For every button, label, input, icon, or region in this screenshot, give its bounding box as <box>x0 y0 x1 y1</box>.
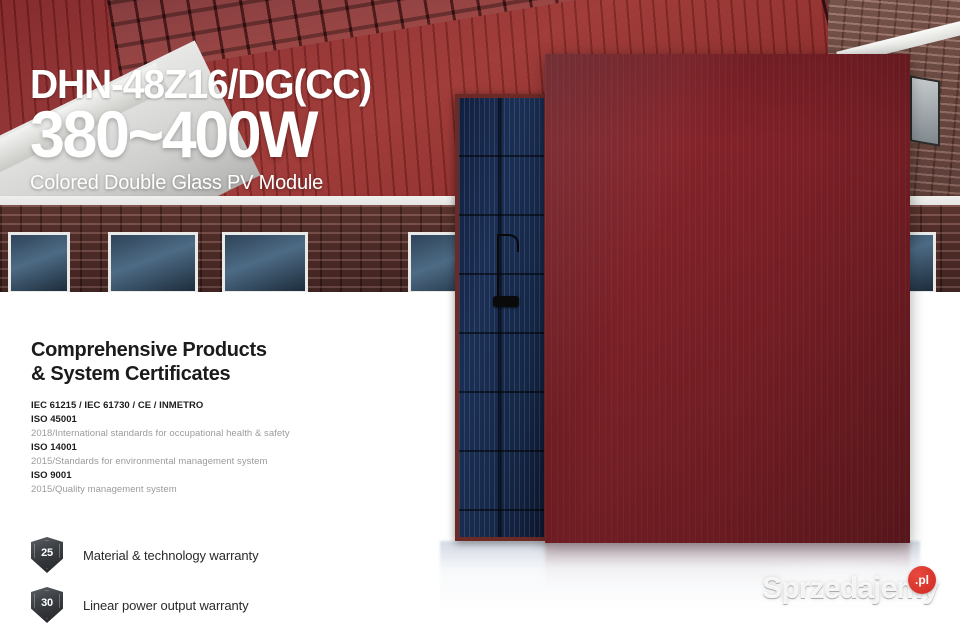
product-banner-page: DHN-48Z16/DG(CC) 380~400W Colored Double… <box>0 0 960 630</box>
product-subtitle: Colored Double Glass PV Module <box>30 172 389 195</box>
right-house-window <box>910 75 940 146</box>
warranty-label: Linear power output warranty <box>83 598 249 613</box>
warranty-row: 30 Linear power output warranty <box>31 580 451 630</box>
warranties-section: 25 Material & technology warranty 30 Lin… <box>31 530 451 630</box>
certificates-section: Comprehensive Products & System Certific… <box>31 338 431 497</box>
certificate-description: 2015/Standards for environmental managem… <box>31 455 431 469</box>
warranty-label: Material & technology warranty <box>83 548 258 563</box>
warranty-years: 25 <box>41 547 53 559</box>
certificates-heading-line2: & System Certificates <box>31 362 431 386</box>
shield-icon: 25 <box>31 537 63 573</box>
facade-window <box>222 232 308 292</box>
facade-window <box>108 232 198 292</box>
certificate-name: ISO 9001 <box>31 469 431 483</box>
blue-solar-panel-module <box>455 94 548 541</box>
panel-cable <box>497 236 499 298</box>
certificates-heading: Comprehensive Products & System Certific… <box>31 338 431 386</box>
certificate-name: ISO 14001 <box>31 441 431 455</box>
certificates-heading-line1: Comprehensive Products <box>31 338 431 362</box>
shield-icon: 30 <box>31 587 63 623</box>
certificate-name: ISO 45001 <box>31 413 431 427</box>
red-colored-pv-module <box>545 54 910 543</box>
facade-window <box>8 232 70 292</box>
product-power-rating: 380~400W <box>30 102 371 166</box>
certificate-description: 2015/Quality management system <box>31 483 431 497</box>
certificate-name: IEC 61215 / IEC 61730 / CE / INMETRO <box>31 399 431 413</box>
panel-cable-bend <box>497 234 519 252</box>
warranty-row: 25 Material & technology warranty <box>31 530 451 580</box>
certificates-list: IEC 61215 / IEC 61730 / CE / INMETRO ISO… <box>31 399 431 497</box>
warranty-years: 30 <box>41 597 53 609</box>
certificate-description: 2018/International standards for occupat… <box>31 427 431 441</box>
watermark-pl-badge: .pl <box>908 566 936 594</box>
hero-text-block: DHN-48Z16/DG(CC) 380~400W Colored Double… <box>30 62 389 195</box>
panel-junction-box <box>493 296 519 307</box>
